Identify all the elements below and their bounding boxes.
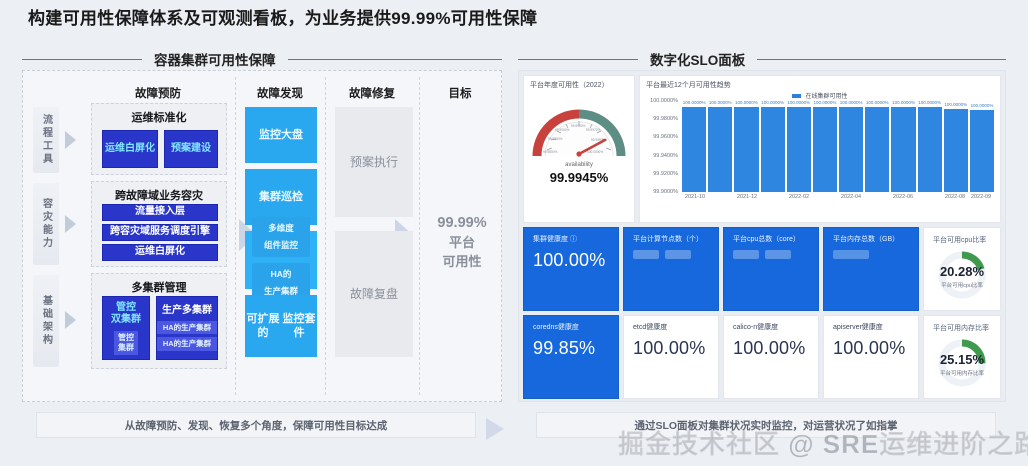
axis-label-infrastructure: 基础架构 bbox=[33, 275, 59, 367]
box-sub-ha-prod-2: HA的生产集群 bbox=[157, 337, 217, 350]
gauge-value: 99.9945% bbox=[524, 170, 634, 185]
group-multicluster-mgmt: 多集群管理 管控双集群 管控集群 生产多集群 HA的生产集群 HA的生产集群 bbox=[91, 273, 227, 369]
svg-text:99.9950%: 99.9950% bbox=[571, 124, 586, 128]
kpi-calico-health[interactable]: calico-n健康度 100.00% bbox=[723, 315, 819, 399]
chart-y-tick: 99.9000% bbox=[653, 189, 678, 195]
page-title: 构建可用性保障体系及可观测看板，为业务提供99.99%可用性保障 bbox=[28, 4, 537, 29]
kpi-value: 100.00% bbox=[633, 338, 709, 359]
section-left-title: 容器集群可用性保障 bbox=[154, 49, 276, 69]
chart-bar: 100.0000% bbox=[708, 107, 732, 192]
kpi-title: calico-n健康度 bbox=[733, 324, 809, 332]
chart-bar: 100.0000% bbox=[813, 107, 837, 192]
chart-bars: 100.0000%100.0000%100.0000%100.0000%100.… bbox=[682, 107, 994, 192]
rule-right bbox=[757, 59, 1006, 60]
slo-dashboard: 平台年度可用性（2022） 99.9800%99.9850% bbox=[518, 70, 1006, 402]
axis-label-process-tools: 流程工具 bbox=[33, 107, 59, 173]
kpi-cpu-total[interactable]: 平台cpu总数（core） bbox=[723, 227, 819, 311]
watermark: 掘金技术社区 @ SRE运维进阶之路 bbox=[618, 424, 1028, 461]
chart-y-tick: 99.9200% bbox=[653, 171, 678, 177]
chart-x-tick: 2021-10 bbox=[685, 194, 705, 200]
panel-title: 平台最近12个月可用性趋势 bbox=[640, 76, 1000, 90]
chart-y-tick: 99.9400% bbox=[653, 153, 678, 159]
box-ops-whitescreen-2[interactable]: 运维白屏化 bbox=[102, 244, 218, 261]
column-divider bbox=[325, 77, 326, 395]
arrow-icon bbox=[65, 131, 76, 149]
chart-x-axis: 2021-102021-122022-022022-042022-062022-… bbox=[682, 193, 994, 206]
gauge-sub-label: availability bbox=[524, 162, 634, 168]
group-cross-domain-dr: 跨故障域业务容灾 流量接入层 跨容灾域服务调度引擎 运维白屏化 bbox=[91, 181, 227, 267]
kpi-title: coredns健康度 bbox=[533, 324, 609, 332]
rule-right bbox=[288, 59, 503, 60]
kpi-sub: 平台可用cpu比率 bbox=[935, 281, 989, 289]
panel-availability-trend: 平台最近12个月可用性趋势 在线集群可用性 100.0000%99.9800%9… bbox=[639, 75, 1001, 223]
kpi-placeholder-bars bbox=[633, 250, 709, 259]
box-incident-review[interactable]: 故障复盘 bbox=[335, 231, 413, 357]
chart-x-tick: 2022-04 bbox=[841, 194, 861, 200]
kpi-etcd-health[interactable]: etcd健康度 100.00% bbox=[623, 315, 719, 399]
column-head-goal: 目标 bbox=[421, 85, 499, 101]
section-header-left: 容器集群可用性保障 bbox=[22, 49, 502, 69]
kpi-value: 99.85% bbox=[533, 338, 609, 359]
chart-bar-label: 100.0000% bbox=[709, 100, 732, 105]
chart-y-tick: 99.9800% bbox=[653, 116, 678, 122]
goal-value: 99.99% bbox=[425, 213, 499, 234]
goal-line2: 平台 bbox=[425, 234, 499, 253]
chart-plot-area: 100.0000%99.9800%99.9600%99.9400%99.9200… bbox=[642, 101, 996, 206]
svg-text:99.9970%: 99.9970% bbox=[586, 128, 601, 132]
box-sub-control-cluster: 管控集群 bbox=[114, 331, 138, 355]
chart-bar: 100.0000% bbox=[970, 110, 994, 192]
chart-x-tick: 2022-08 bbox=[945, 194, 965, 200]
chart-bar: 100.0000% bbox=[787, 107, 811, 192]
chart-bar-label: 100.0000% bbox=[840, 100, 863, 105]
kpi-placeholder-bar bbox=[833, 250, 869, 259]
section-header-right: 数字化SLO面板 bbox=[518, 49, 1006, 69]
chart-bar: 100.0000% bbox=[839, 107, 863, 192]
chart-bar-label: 100.0000% bbox=[866, 100, 889, 105]
goal-block: 99.99% 平台 可用性 bbox=[425, 213, 499, 272]
column-divider bbox=[419, 77, 420, 395]
chart-y-axis: 100.0000%99.9800%99.9600%99.9400%99.9200… bbox=[642, 101, 680, 192]
panel-title: 平台年度可用性（2022） bbox=[524, 76, 634, 90]
svg-text:99.9900%: 99.9900% bbox=[555, 128, 570, 132]
box-plan-construction[interactable]: 预案建设 bbox=[164, 130, 218, 168]
chart-bar: 100.0000% bbox=[944, 109, 968, 192]
column-head-repair: 故障修复 bbox=[327, 85, 417, 101]
box-label: 生产多集群 bbox=[162, 305, 212, 318]
kpi-apiserver-health[interactable]: apiserver健康度 100.00% bbox=[823, 315, 919, 399]
gauge-icon: 99.9800%99.9850% 99.9900%99.9950% 99.997… bbox=[529, 96, 629, 162]
kpi-row-2: coredns健康度 99.85% etcd健康度 100.00% calico… bbox=[523, 315, 1001, 399]
chart-x-tick: 2021-12 bbox=[737, 194, 757, 200]
chart-bar-label: 100.0000% bbox=[918, 100, 941, 105]
availability-gauge: 99.9800%99.9850% 99.9900%99.9950% 99.997… bbox=[529, 96, 629, 162]
kpi-available-memory-ratio[interactable]: 平台可用内存比率 25.15% 平台可用内存比率 bbox=[923, 315, 1001, 399]
kpi-value: 100.00% bbox=[533, 250, 609, 271]
kpi-available-cpu-ratio[interactable]: 平台可用cpu比率 20.28% 平台可用cpu比率 bbox=[923, 227, 1001, 311]
section-right-title: 数字化SLO面板 bbox=[650, 49, 745, 69]
kpi-value: 100.00% bbox=[833, 338, 909, 359]
chart-y-tick: 99.9600% bbox=[653, 134, 678, 140]
box-sub-ha-prod-1: HA的生产集群 bbox=[157, 321, 217, 334]
donut-chart: 25.15% 平台可用内存比率 bbox=[935, 336, 989, 390]
rule-left bbox=[22, 59, 142, 60]
chart-bar: 100.0000% bbox=[865, 107, 889, 192]
kpi-value: 25.15% bbox=[935, 352, 989, 367]
legend-swatch bbox=[792, 94, 801, 98]
chart-y-tick: 100.0000% bbox=[650, 98, 678, 104]
axis-label-dr-capability: 容灾能力 bbox=[33, 183, 59, 265]
kpi-title: 平台cpu总数（core） bbox=[733, 236, 809, 244]
arrow-icon bbox=[65, 311, 76, 329]
chart-legend: 在线集群可用性 bbox=[640, 91, 1000, 100]
chart-bar-label: 100.0000% bbox=[761, 100, 784, 105]
svg-text:99.9800%: 99.9800% bbox=[543, 150, 558, 154]
rule-left bbox=[518, 59, 638, 60]
box-ops-whitescreen[interactable]: 运维白屏化 bbox=[102, 130, 158, 168]
box-traffic-layer[interactable]: 流量接入层 bbox=[102, 204, 218, 221]
box-extensible-monitor-suite[interactable]: 可扩展的监控套件 bbox=[245, 295, 317, 357]
kpi-title: apiserver健康度 bbox=[833, 324, 909, 332]
kpi-title: 集群健康度 ⓘ bbox=[533, 236, 609, 244]
chart-bar-label: 100.0000% bbox=[683, 100, 706, 105]
kpi-sub: 平台可用内存比率 bbox=[935, 369, 989, 377]
chart-bar-label: 100.0000% bbox=[944, 102, 967, 107]
chart-bar-label: 100.0000% bbox=[971, 103, 994, 108]
column-divider bbox=[235, 77, 236, 395]
kpi-value: 20.28% bbox=[935, 264, 989, 279]
chart-bar-label: 100.0000% bbox=[892, 100, 915, 105]
kpi-value: 100.00% bbox=[733, 338, 809, 359]
kpi-cluster-health[interactable]: 集群健康度 ⓘ 100.00% bbox=[523, 227, 619, 311]
chart-bar: 100.0000% bbox=[734, 107, 758, 192]
goal-line3: 可用性 bbox=[425, 253, 499, 272]
chart-bar: 100.0000% bbox=[761, 107, 785, 192]
kpi-coredns-health[interactable]: coredns健康度 99.85% bbox=[523, 315, 619, 399]
box-control-dual-cluster[interactable]: 管控双集群 管控集群 bbox=[102, 296, 150, 360]
donut-chart: 20.28% 平台可用cpu比率 bbox=[935, 248, 989, 302]
chart-bar: 100.0000% bbox=[682, 107, 706, 192]
chart-x-tick: 2022-06 bbox=[893, 194, 913, 200]
svg-text:99.9850%: 99.9850% bbox=[548, 137, 563, 141]
arrow-icon bbox=[65, 215, 76, 233]
group-ops-standardization: 运维标准化 运维白屏化 预案建设 bbox=[91, 103, 227, 175]
column-head-detection: 故障发现 bbox=[237, 85, 323, 101]
chart-x-tick: 2022-02 bbox=[789, 194, 809, 200]
legend-label: 在线集群可用性 bbox=[805, 91, 847, 100]
group-title: 跨故障域业务容灾 bbox=[92, 187, 226, 203]
chart-bar-label: 100.0000% bbox=[814, 100, 837, 105]
footer-left: 从故障预防、发现、恢复多个角度，保障可用性目标达成 bbox=[36, 412, 476, 438]
chart-bar: 100.0000% bbox=[891, 107, 915, 192]
group-title: 运维标准化 bbox=[92, 109, 226, 125]
chart-bar-label: 100.0000% bbox=[787, 100, 810, 105]
kpi-title: 平台可用内存比率 bbox=[933, 323, 989, 333]
box-monitor-dashboard[interactable]: 监控大盘 bbox=[245, 107, 317, 163]
chart-bar: 100.0000% bbox=[918, 107, 942, 192]
box-sub-multidim-monitor: 多维度组件监控 bbox=[252, 217, 310, 257]
kpi-title: 平台计算节点数（个） bbox=[633, 236, 709, 244]
group-title: 多集群管理 bbox=[92, 279, 226, 295]
kpi-row-1: 集群健康度 ⓘ 100.00% 平台计算节点数（个） 平台cpu总数（core）… bbox=[523, 227, 1001, 311]
box-component-monitor-combo[interactable]: 多维度组件监控 HA的生产集群 bbox=[245, 231, 317, 289]
box-label: 管控双集群 bbox=[111, 302, 141, 327]
box-dr-scheduler[interactable]: 跨容灾域服务调度引擎 bbox=[102, 224, 218, 241]
svg-text:100.0000%: 100.0000% bbox=[587, 150, 603, 154]
chart-x-tick: 2022-09 bbox=[971, 194, 991, 200]
availability-diagram: 故障预防 故障发现 故障修复 目标 流程工具 容灾能力 基础架构 运维标准化 运… bbox=[22, 70, 502, 402]
chart-bar-label: 100.0000% bbox=[735, 100, 758, 105]
kpi-title: 平台可用cpu比率 bbox=[933, 235, 986, 245]
kpi-compute-nodes[interactable]: 平台计算节点数（个） bbox=[623, 227, 719, 311]
kpi-title: 平台内存总数（GB） bbox=[833, 236, 909, 244]
kpi-memory-total[interactable]: 平台内存总数（GB） bbox=[823, 227, 919, 311]
box-prod-multicluster[interactable]: 生产多集群 HA的生产集群 HA的生产集群 bbox=[156, 296, 218, 360]
panel-annual-availability: 平台年度可用性（2022） 99.9800%99.9850% bbox=[523, 75, 635, 223]
kpi-placeholder-bars bbox=[733, 250, 809, 259]
column-head-prevention: 故障预防 bbox=[83, 85, 233, 101]
kpi-title: etcd健康度 bbox=[633, 324, 709, 332]
dashboard-top-row: 平台年度可用性（2022） 99.9800%99.9850% bbox=[523, 75, 1001, 223]
arrow-icon bbox=[486, 418, 504, 440]
box-plan-execution[interactable]: 预案执行 bbox=[335, 107, 413, 217]
